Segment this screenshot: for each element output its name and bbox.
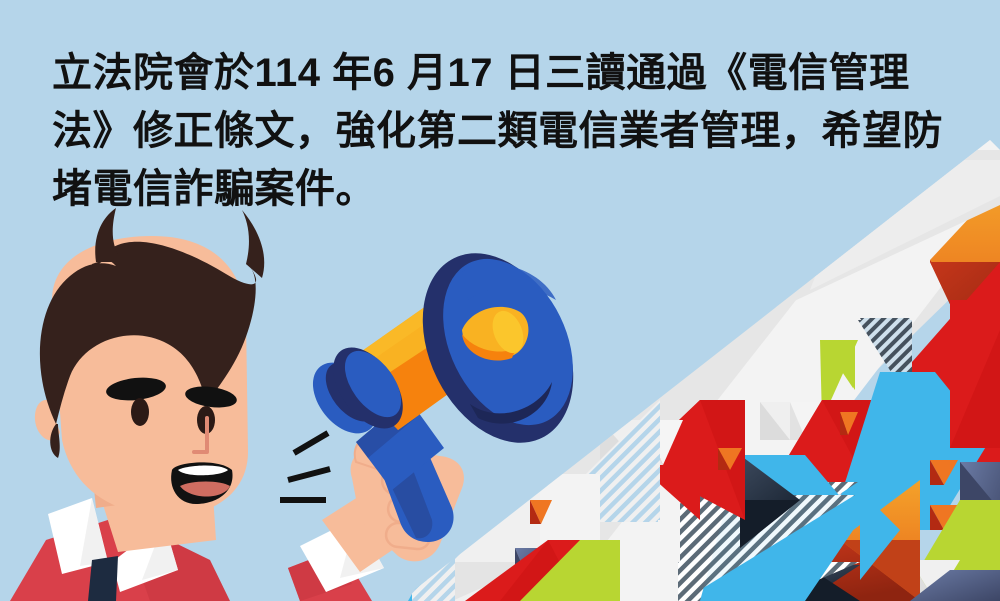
poster-canvas: 立法院會於114 年6 月17 日三讀通過《電信管理 法》修正條文，強化第二類電… [0,0,1000,601]
illustration-layer [0,0,1000,601]
character-head [35,208,264,552]
sound-lines [280,433,330,500]
